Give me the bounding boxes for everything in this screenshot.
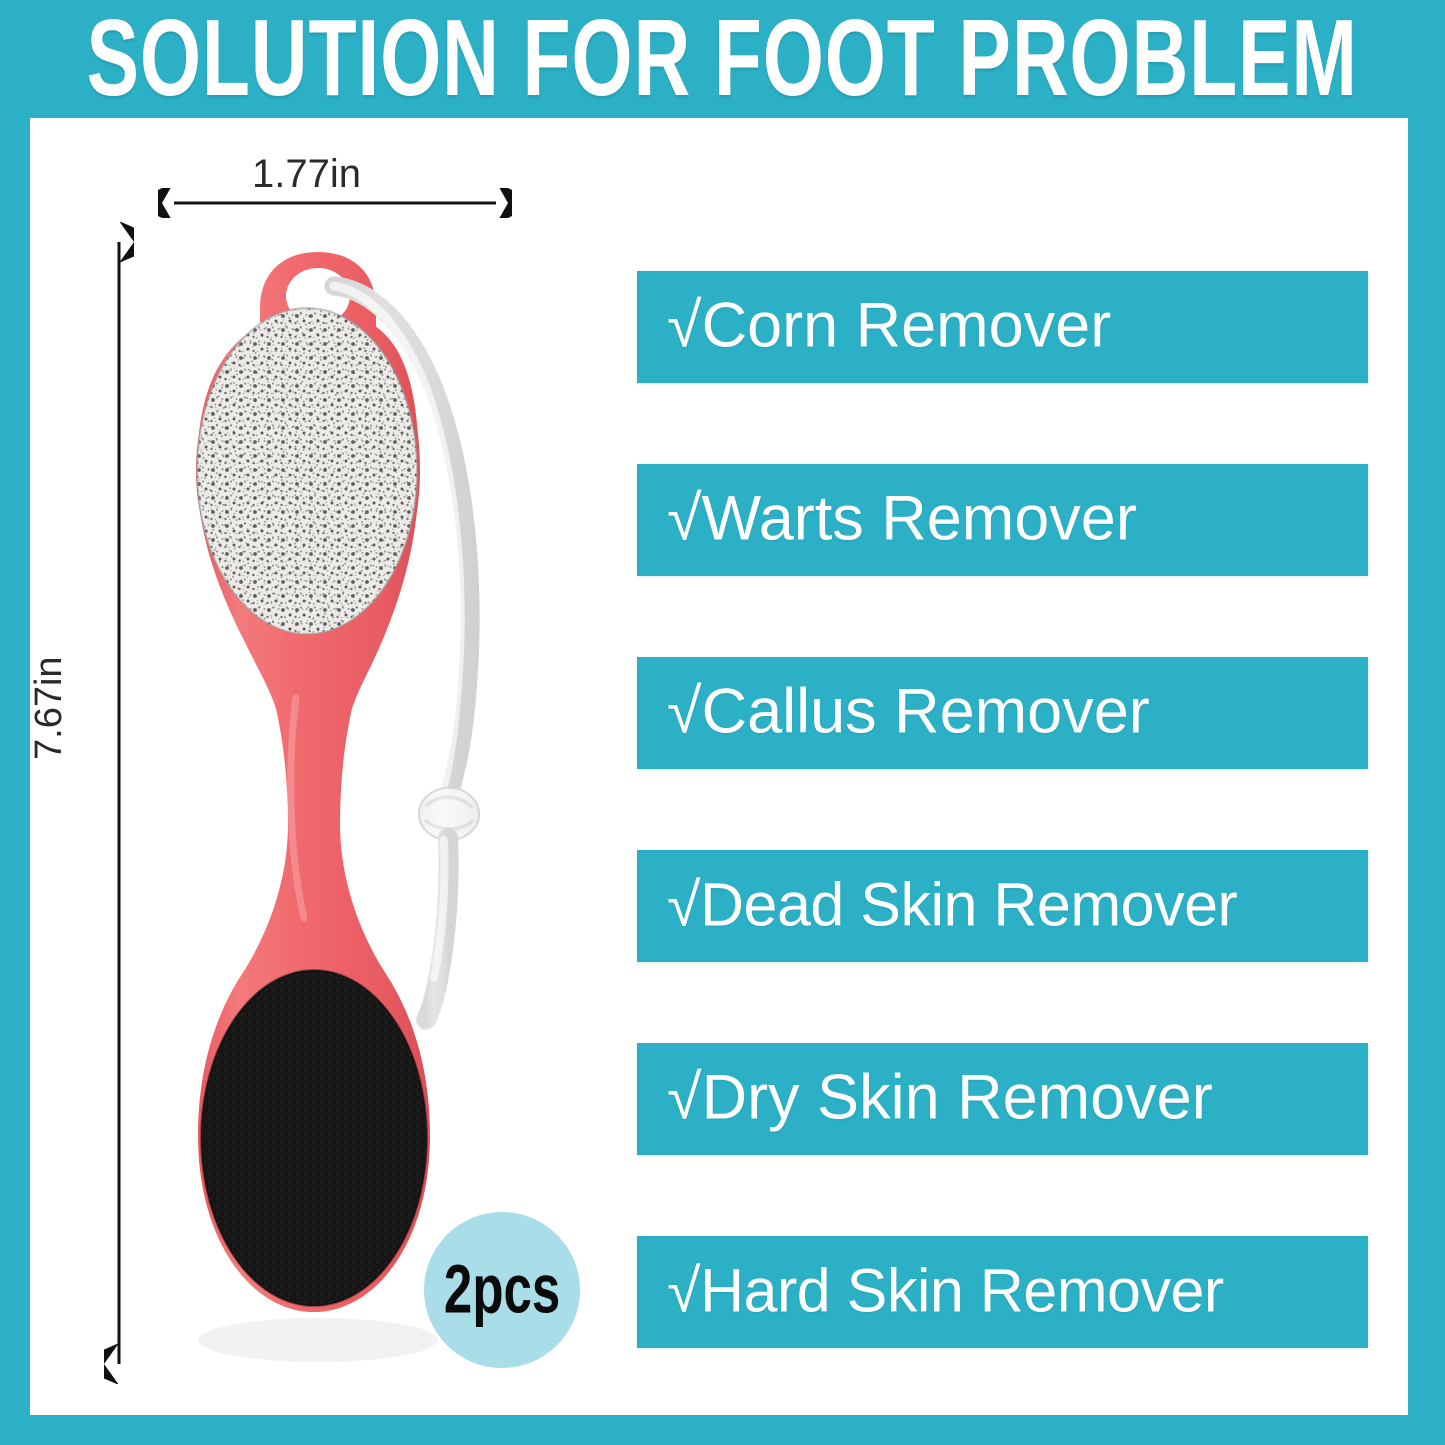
feature-label-dry-skin-remover: √Dry Skin Remover: [667, 1062, 1213, 1134]
feature-label-callus-remover: √Callus Remover: [667, 676, 1150, 748]
quantity-badge-label: 2pcs: [444, 1256, 560, 1324]
feature-label-dead-skin-remover: √Dead Skin Remover: [667, 869, 1237, 941]
feature-bar-warts-remover: √Warts Remover: [637, 464, 1368, 576]
width-dimension-arrow-icon: [158, 188, 512, 218]
feature-bar-dry-skin-remover: √Dry Skin Remover: [637, 1043, 1368, 1155]
feature-bar-callus-remover: √Callus Remover: [637, 657, 1368, 769]
feature-bar-dead-skin-remover: √Dead Skin Remover: [637, 850, 1368, 962]
product-infographic: SOLUTION FOR FOOT PROBLEM 1.77in 7.67in: [0, 0, 1445, 1445]
feature-bar-corn-remover: √Corn Remover: [637, 271, 1368, 383]
feature-bar-hard-skin-remover: √Hard Skin Remover: [637, 1236, 1368, 1348]
feature-label-warts-remover: √Warts Remover: [667, 483, 1137, 555]
feature-list: √Corn Remover √Warts Remover √Callus Rem…: [637, 271, 1368, 1351]
height-dimension-arrow-icon: [104, 222, 134, 1384]
quantity-badge: 2pcs: [424, 1212, 580, 1368]
height-dimension-label: 7.67in: [28, 656, 71, 760]
feature-label-hard-skin-remover: √Hard Skin Remover: [667, 1255, 1224, 1327]
header-banner: SOLUTION FOR FOOT PROBLEM: [0, 0, 1445, 118]
feature-label-corn-remover: √Corn Remover: [667, 290, 1111, 362]
page-title: SOLUTION FOR FOOT PROBLEM: [87, 5, 1358, 113]
